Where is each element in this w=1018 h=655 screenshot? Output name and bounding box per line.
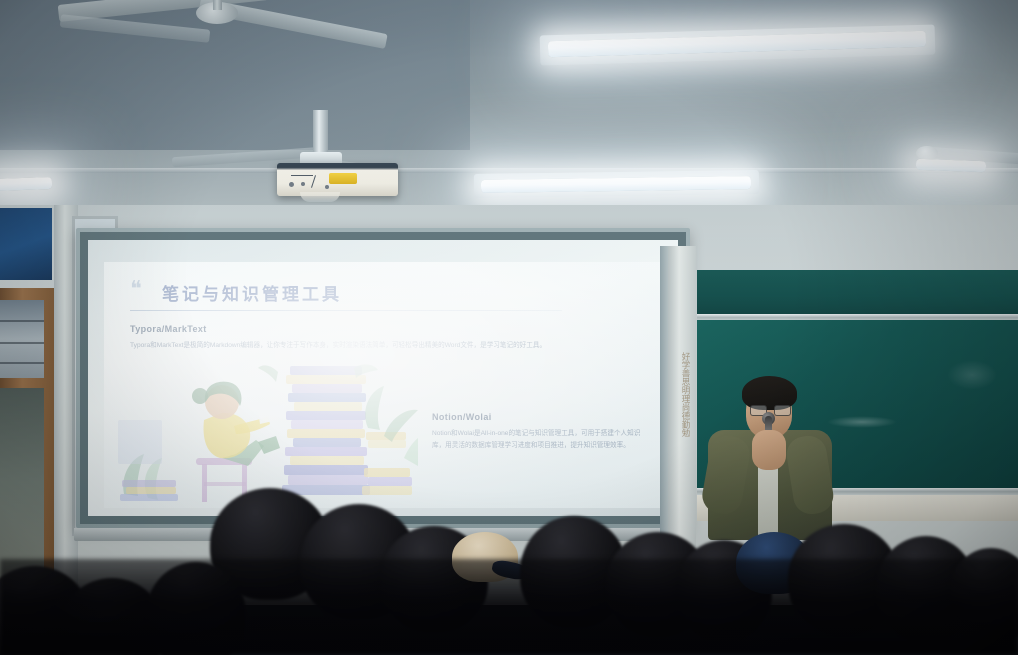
- classroom-photo: ❝ 笔记与知识管理工具 Typora/MarkText Typora和MarkT…: [0, 0, 1018, 655]
- chalkboard-upper-panel: [697, 270, 1018, 314]
- slide-section-body-notion: Notion和Wolai是All-in-one的笔记与知识管理工具，可用于搭建个…: [432, 428, 644, 452]
- projector-lens: [300, 192, 340, 202]
- quote-mark-icon: ❝: [130, 276, 164, 302]
- title-underline: [130, 310, 562, 311]
- ceiling: [0, 0, 1018, 215]
- presenter-hands: [752, 430, 786, 470]
- slide-section-heading-typora: Typora/MarkText: [130, 324, 207, 334]
- wall-sign-blue: [0, 208, 52, 280]
- audience-foreground: [0, 470, 1018, 655]
- fan-pole: [213, 0, 222, 10]
- slide-section-heading-notion: Notion/Wolai: [432, 412, 492, 422]
- audience-silhouette-mass: [0, 559, 1018, 655]
- projector-label: [329, 173, 357, 184]
- fluorescent-light: [0, 177, 52, 191]
- projector-pole: [313, 110, 328, 158]
- slide-title: 笔记与知识管理工具: [162, 280, 342, 305]
- slide-section-body-typora: Typora和MarkText是极简的Markdown编辑器，让你专注于写作本身…: [130, 340, 600, 352]
- door-glass-panel: [0, 300, 44, 378]
- wall-banner-text: 好学善思明理尚德勤勉: [672, 352, 691, 437]
- ceiling-beam: [0, 168, 1018, 173]
